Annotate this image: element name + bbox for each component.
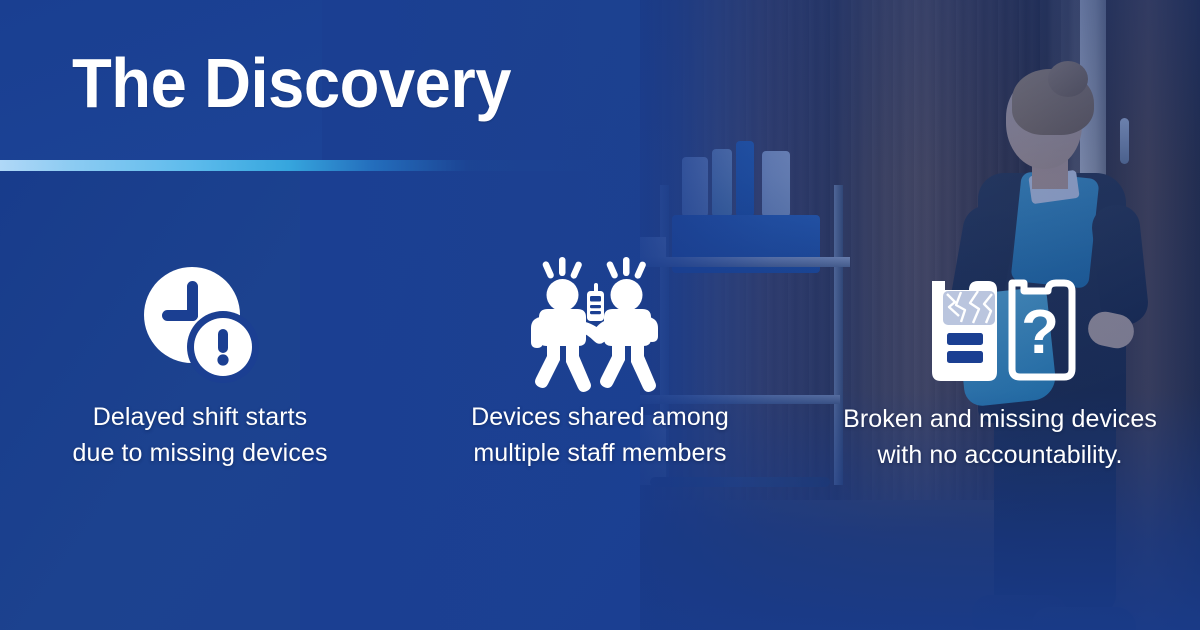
feature-item-devices-shared: Devices shared among multiple staff memb… bbox=[400, 250, 800, 510]
feature-caption: Delayed shift starts due to missing devi… bbox=[72, 400, 327, 471]
feature-item-broken-missing-devices: ? Broken and missing devices with no acc… bbox=[800, 250, 1200, 510]
broken-and-missing-device-icon: ? bbox=[920, 250, 1080, 400]
svg-text:?: ? bbox=[1021, 298, 1059, 367]
two-people-sharing-device-icon bbox=[525, 250, 675, 400]
clock-alert-icon bbox=[134, 250, 266, 400]
title-divider bbox=[0, 160, 600, 171]
feature-row: Delayed shift starts due to missing devi… bbox=[0, 250, 1200, 510]
page-title: The Discovery bbox=[72, 48, 511, 118]
slide-canvas: The Discovery Delayed shi bbox=[0, 0, 1200, 630]
feature-caption: Devices shared among multiple staff memb… bbox=[471, 400, 729, 471]
feature-caption: Broken and missing devices with no accou… bbox=[843, 402, 1157, 473]
feature-item-delayed-shift-starts: Delayed shift starts due to missing devi… bbox=[0, 250, 400, 510]
